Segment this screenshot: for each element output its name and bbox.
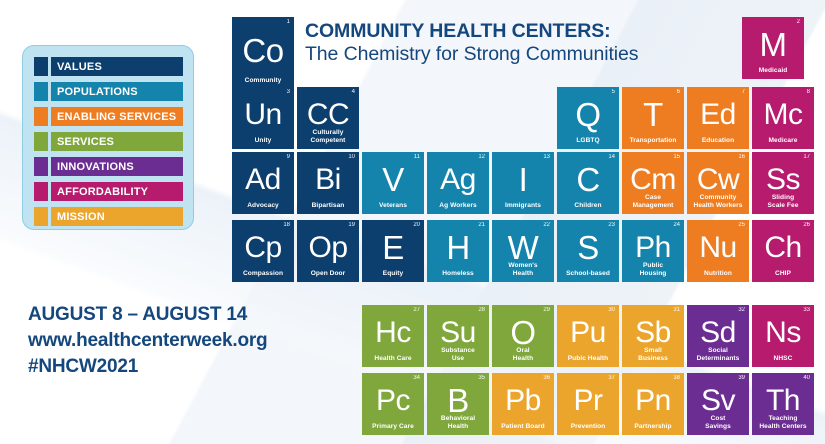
element-symbol: Pb [492,386,554,416]
element-number: 13 [543,154,550,160]
element-number: 39 [738,375,745,381]
element-name: Unity [234,137,292,145]
element-symbol: Ss [752,165,814,195]
element-name: Pubic Health [559,355,617,363]
legend-item-label: ENABLING SERVICES [57,111,176,123]
element-tile[interactable]: 12AgAg Workers [427,152,489,214]
element-number: 32 [738,307,745,313]
element-number: 6 [677,89,680,95]
element-name: Medicaid [744,67,802,75]
element-number: 25 [738,222,745,228]
element-name: Primary Care [364,423,422,431]
element-number: 37 [608,375,615,381]
legend-item: POPULATIONS [34,82,183,101]
element-number: 8 [807,89,810,95]
element-symbol: Ag [427,165,489,195]
element-number: 3 [287,89,290,95]
legend-color-bar: SERVICES [51,132,183,151]
element-name: Women'sHealth [494,262,552,278]
element-number: 17 [803,154,810,160]
element-tile[interactable]: 25NuNutrition [687,220,749,282]
element-number: 4 [352,89,355,95]
element-tile[interactable]: 40ThTeachingHealth Centers [752,373,814,435]
legend-color-swatch [34,132,48,151]
element-tile[interactable]: 33NsNHSC [752,305,814,367]
element-number: 10 [348,154,355,160]
legend-color-swatch [34,182,48,201]
legend-item-label: POPULATIONS [57,86,138,98]
element-name: Ag Workers [429,202,487,210]
element-name: School-based [559,270,617,278]
element-tile[interactable]: 3UnUnity [232,87,294,149]
element-number: 9 [287,154,290,160]
element-symbol: Cp [232,233,294,263]
event-dates: AUGUST 8 – AUGUST 14 [28,302,358,328]
element-symbol: Ch [752,233,814,263]
legend-color-swatch [34,107,48,126]
element-number: 5 [612,89,615,95]
element-symbol: Su [427,318,489,348]
element-name: Transportation [624,137,682,145]
element-name: Medicare [754,137,812,145]
legend-color-bar: ENABLING SERVICES [51,107,183,126]
element-name: SubstanceUse [429,347,487,363]
legend-item-label: INNOVATIONS [57,161,134,173]
element-number: 24 [673,222,680,228]
element-name: NHSC [754,355,812,363]
legend-item: ENABLING SERVICES [34,107,183,126]
element-symbol: CC [297,100,359,130]
element-tile[interactable]: 6TTransportation [622,87,684,149]
element-name: Prevention [559,423,617,431]
legend-color-bar: POPULATIONS [51,82,183,101]
element-symbol: Ad [232,165,294,195]
page-title: COMMUNITY HEALTH CENTERS: [305,20,735,42]
element-name: LGBTQ [559,137,617,145]
element-name: Patient Board [494,423,552,431]
element-tile[interactable]: 7EdEducation [687,87,749,149]
element-name: SlidingScale Fee [754,194,812,210]
category-legend: VALUESPOPULATIONSENABLING SERVICESSERVIC… [22,45,194,230]
element-symbol: Op [297,233,359,263]
element-symbol: Hc [362,318,424,348]
element-name: Education [689,137,747,145]
element-tile[interactable]: 28SuSubstanceUse [427,305,489,367]
legend-color-swatch [34,207,48,226]
element-tile[interactable]: 37PrPrevention [557,373,619,435]
element-symbol: Ns [752,318,814,348]
element-symbol: Q [557,98,619,131]
element-name: Immigrants [494,202,552,210]
element-symbol: Sb [622,318,684,348]
element-number: 31 [673,307,680,313]
element-tile[interactable]: 38PnPartnership [622,373,684,435]
element-number: 1 [287,19,290,25]
poster-title-block: COMMUNITY HEALTH CENTERS: The Chemistry … [305,20,735,67]
element-name: Compassion [234,270,292,278]
element-symbol: Pr [557,386,619,416]
element-name: Open Door [299,270,357,278]
element-number: 15 [673,154,680,160]
element-tile[interactable]: 26ChCHIP [752,220,814,282]
element-symbol: Pc [362,386,424,416]
event-hashtag: #NHCW2021 [28,354,358,380]
legend-color-bar: INNOVATIONS [51,157,183,176]
element-name: Veterans [364,202,422,210]
event-info-block: AUGUST 8 – AUGUST 14 www.healthcenterwee… [28,302,358,379]
page-subtitle: The Chemistry for Strong Communities [305,43,735,66]
element-name: Community [234,77,292,85]
element-name: CaseManagement [624,194,682,210]
element-number: 18 [283,222,290,228]
element-name: Bipartisan [299,202,357,210]
legend-item: MISSION [34,207,183,226]
element-symbol: S [557,231,619,264]
element-name: SmallBusiness [624,347,682,363]
element-name: TeachingHealth Centers [754,415,812,431]
poster-canvas: VALUESPOPULATIONSENABLING SERVICESSERVIC… [0,0,825,444]
element-tile[interactable]: 19OpOpen Door [297,220,359,282]
element-name: CulturallyCompetent [299,129,357,145]
element-tile[interactable]: 8McMedicare [752,87,814,149]
legend-item: AFFORDABILITY [34,182,183,201]
legend-item-label: SERVICES [57,136,114,148]
legend-color-swatch [34,82,48,101]
element-tile[interactable]: 2MMedicaid [742,17,804,79]
element-number: 27 [413,307,420,313]
element-number: 19 [348,222,355,228]
legend-item-label: VALUES [57,61,102,73]
element-tile[interactable]: 32SdSocialDeterminants [687,305,749,367]
element-name: BehavioralHealth [429,415,487,431]
element-symbol: H [427,231,489,264]
element-number: 34 [413,375,420,381]
element-tile[interactable]: 23SSchool-based [557,220,619,282]
element-name: CHIP [754,270,812,278]
element-symbol: Sd [687,318,749,348]
element-tile[interactable]: 29OOralHealth [492,305,554,367]
element-tile[interactable]: 16CwCommunityHealth Workers [687,152,749,214]
element-symbol: Bi [297,165,359,195]
element-name: PublicHousing [624,262,682,278]
element-tile[interactable]: 11VVeterans [362,152,424,214]
element-tile[interactable]: 1CoCommunity [232,17,294,89]
element-symbol: C [557,163,619,196]
element-number: 36 [543,375,550,381]
element-tile[interactable]: 4CCCulturallyCompetent [297,87,359,149]
element-tile[interactable]: 27HcHealth Care [362,305,424,367]
element-number: 26 [803,222,810,228]
element-symbol: W [492,231,554,264]
element-symbol: Th [752,386,814,416]
element-symbol: Pu [557,318,619,348]
element-name: Health Care [364,355,422,363]
event-website[interactable]: www.healthcenterweek.org [28,328,358,354]
element-name: Advocacy [234,202,292,210]
element-tile[interactable]: 17SsSlidingScale Fee [752,152,814,214]
legend-item: SERVICES [34,132,183,151]
element-tile[interactable]: 24PhPublicHousing [622,220,684,282]
element-symbol: Un [232,100,294,130]
legend-color-swatch [34,57,48,76]
element-symbol: Ph [622,233,684,263]
element-name: CostSavings [689,415,747,431]
element-number: 28 [478,307,485,313]
legend-item-label: MISSION [57,211,105,223]
element-symbol: I [492,163,554,196]
element-name: Nutrition [689,270,747,278]
element-name: OralHealth [494,347,552,363]
element-tile[interactable]: 9AdAdvocacy [232,152,294,214]
element-tile[interactable]: 15CmCaseManagement [622,152,684,214]
element-tile[interactable]: 34PcPrimary Care [362,373,424,435]
element-number: 22 [543,222,550,228]
element-number: 20 [413,222,420,228]
legend-item-label: AFFORDABILITY [57,186,148,198]
element-name: Equity [364,270,422,278]
element-number: 38 [673,375,680,381]
element-number: 14 [608,154,615,160]
element-tile[interactable]: 14CChildren [557,152,619,214]
element-number: 2 [797,19,800,25]
element-tile[interactable]: 20EEquity [362,220,424,282]
element-tile[interactable]: 30PuPubic Health [557,305,619,367]
element-symbol: V [362,163,424,196]
element-symbol: T [622,98,684,131]
element-symbol: Nu [687,233,749,263]
element-number: 23 [608,222,615,228]
element-tile[interactable]: 39SvCostSavings [687,373,749,435]
element-symbol: Ed [687,100,749,130]
element-number: 11 [414,154,420,160]
element-tile[interactable]: 13IImmigrants [492,152,554,214]
element-number: 29 [543,307,550,313]
element-number: 33 [803,307,810,313]
element-symbol: B [427,384,489,417]
element-tile[interactable]: 21HHomeless [427,220,489,282]
legend-color-bar: VALUES [51,57,183,76]
element-tile[interactable]: 35BBehavioralHealth [427,373,489,435]
element-number: 12 [478,154,485,160]
legend-item: VALUES [34,57,183,76]
element-tile[interactable]: 5QLGBTQ [557,87,619,149]
element-tile[interactable]: 22WWomen'sHealth [492,220,554,282]
element-number: 40 [803,375,810,381]
element-tile[interactable]: 10BiBipartisan [297,152,359,214]
element-name: Homeless [429,270,487,278]
legend-color-bar: MISSION [51,207,183,226]
element-tile[interactable]: 36PbPatient Board [492,373,554,435]
element-number: 16 [738,154,745,160]
element-symbol: M [742,28,804,61]
element-name: Partnership [624,423,682,431]
element-name: CommunityHealth Workers [689,194,747,210]
element-symbol: Cw [687,165,749,195]
element-number: 7 [742,89,745,95]
element-number: 30 [608,307,615,313]
element-symbol: Cm [622,165,684,195]
element-number: 21 [478,222,485,228]
element-name: Children [559,202,617,210]
legend-color-swatch [34,157,48,176]
element-symbol: E [362,231,424,264]
element-symbol: O [492,316,554,349]
element-symbol: Mc [752,100,814,130]
element-tile[interactable]: 18CpCompassion [232,220,294,282]
legend-color-bar: AFFORDABILITY [51,182,183,201]
element-number: 35 [478,375,485,381]
legend-item: INNOVATIONS [34,157,183,176]
element-name: SocialDeterminants [689,347,747,363]
element-symbol: Sv [687,386,749,416]
element-tile[interactable]: 31SbSmallBusiness [622,305,684,367]
element-symbol: Pn [622,386,684,416]
element-symbol: Co [232,34,294,67]
